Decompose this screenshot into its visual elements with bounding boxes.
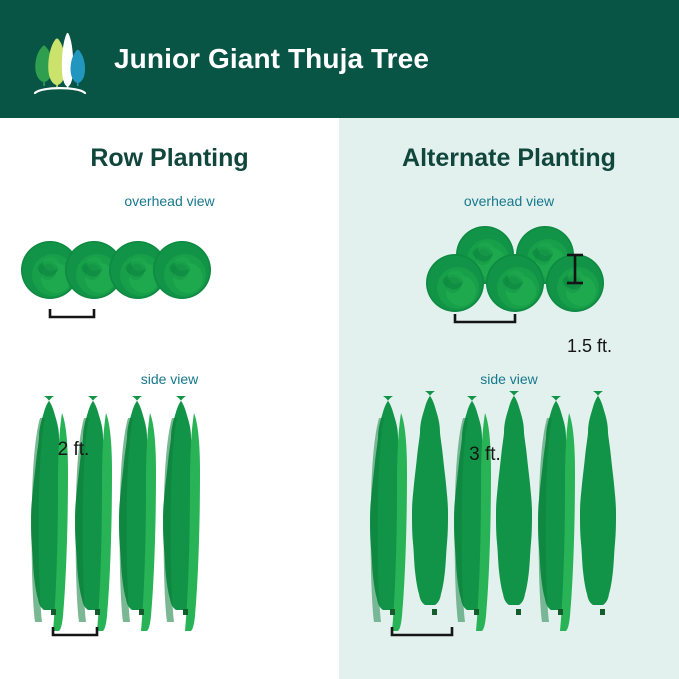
side-tree-group xyxy=(370,391,616,631)
overhead-offset-bar xyxy=(567,255,583,283)
alternate-overhead-offset-label: 1.5 ft. xyxy=(567,336,612,357)
header-bar: Junior Giant Thuja Tree xyxy=(0,0,679,118)
overhead-spacing-bracket xyxy=(455,314,515,322)
infographic-page: Junior Giant Thuja Tree Row Planting ove… xyxy=(0,0,679,679)
row-overhead-spacing-label: 2 ft. xyxy=(0,439,147,461)
overhead-spacing-bracket xyxy=(50,309,94,317)
overhead-tree-group-back xyxy=(456,226,574,284)
panel-alternate-title: Alternate Planting xyxy=(339,144,679,173)
panel-row-side-label: side view xyxy=(0,371,339,387)
panel-row-overhead-label: overhead view xyxy=(0,193,339,209)
panels-container: Row Planting overhead view side view xyxy=(0,118,679,679)
panel-alternate-planting: Alternate Planting overhead view side vi… xyxy=(339,118,679,679)
overhead-tree-group-front xyxy=(426,254,604,312)
side-tree-group xyxy=(31,396,200,631)
panel-row-title: Row Planting xyxy=(0,144,339,173)
alternate-overhead-spacing-label: 3 ft. xyxy=(425,444,545,466)
panel-alternate-side-label: side view xyxy=(339,371,679,387)
panel-alternate-overhead-label: overhead view xyxy=(339,193,679,209)
page-title: Junior Giant Thuja Tree xyxy=(114,43,429,75)
overhead-tree-group xyxy=(21,241,211,299)
side-spacing-bracket xyxy=(392,627,452,635)
side-spacing-bracket xyxy=(53,627,97,635)
four-trees-logo-icon xyxy=(28,23,92,95)
panel-row-planting: Row Planting overhead view side view xyxy=(0,118,339,679)
